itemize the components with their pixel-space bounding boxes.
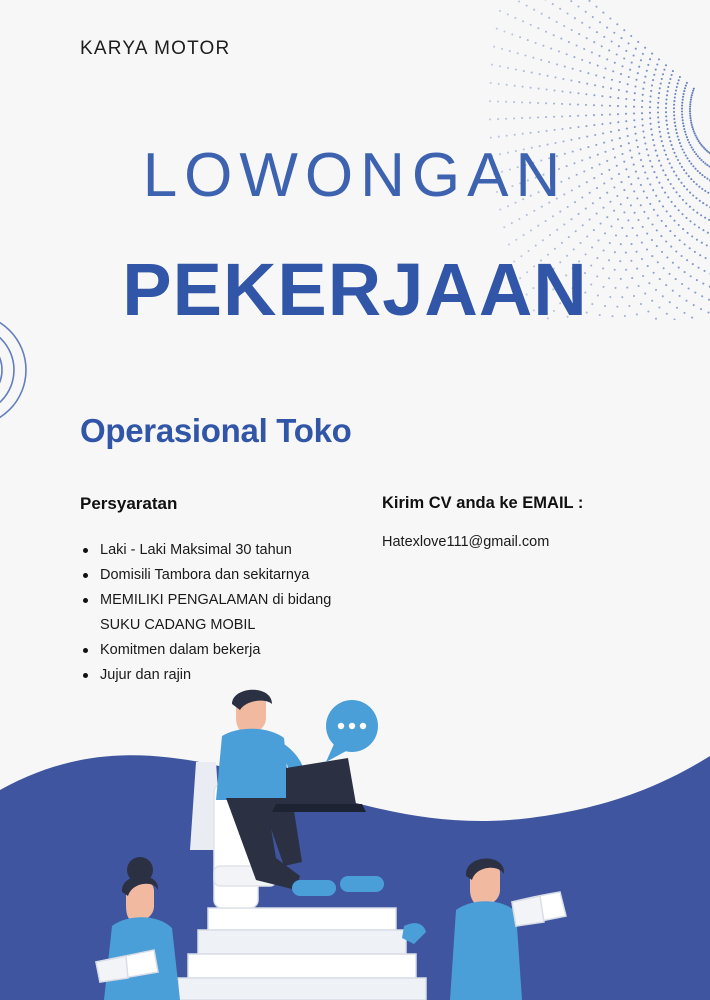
company-name: KARYA MOTOR xyxy=(80,38,230,60)
contact-email: Hatexlove111@gmail.com xyxy=(382,534,549,550)
list-item: Laki - Laki Maksimal 30 tahun xyxy=(78,538,408,563)
requirements-list: Laki - Laki Maksimal 30 tahun Domisili T… xyxy=(78,538,408,688)
contact-heading: Kirim CV anda ke EMAIL : xyxy=(382,494,583,513)
speech-bubble xyxy=(326,700,378,762)
book-stack xyxy=(178,908,426,1000)
list-item: Komitmen dalam bekerja xyxy=(78,638,408,663)
list-item: MEMILIKI PENGALAMAN di bidang xyxy=(78,588,408,613)
poster-canvas: KARYA MOTOR LOWONGAN PEKERJAAN Operasion… xyxy=(0,0,710,1000)
position-subtitle: Operasional Toko xyxy=(80,412,351,450)
bottom-illustration xyxy=(0,680,710,1000)
page-title-line2: PEKERJAAN xyxy=(0,247,710,332)
page-title-line1: LOWONGAN xyxy=(0,140,710,211)
requirements-heading: Persyaratan xyxy=(80,494,177,514)
list-item-continuation: SUKU CADANG MOBIL xyxy=(78,613,408,638)
list-item: Domisili Tambora dan sekitarnya xyxy=(78,563,408,588)
